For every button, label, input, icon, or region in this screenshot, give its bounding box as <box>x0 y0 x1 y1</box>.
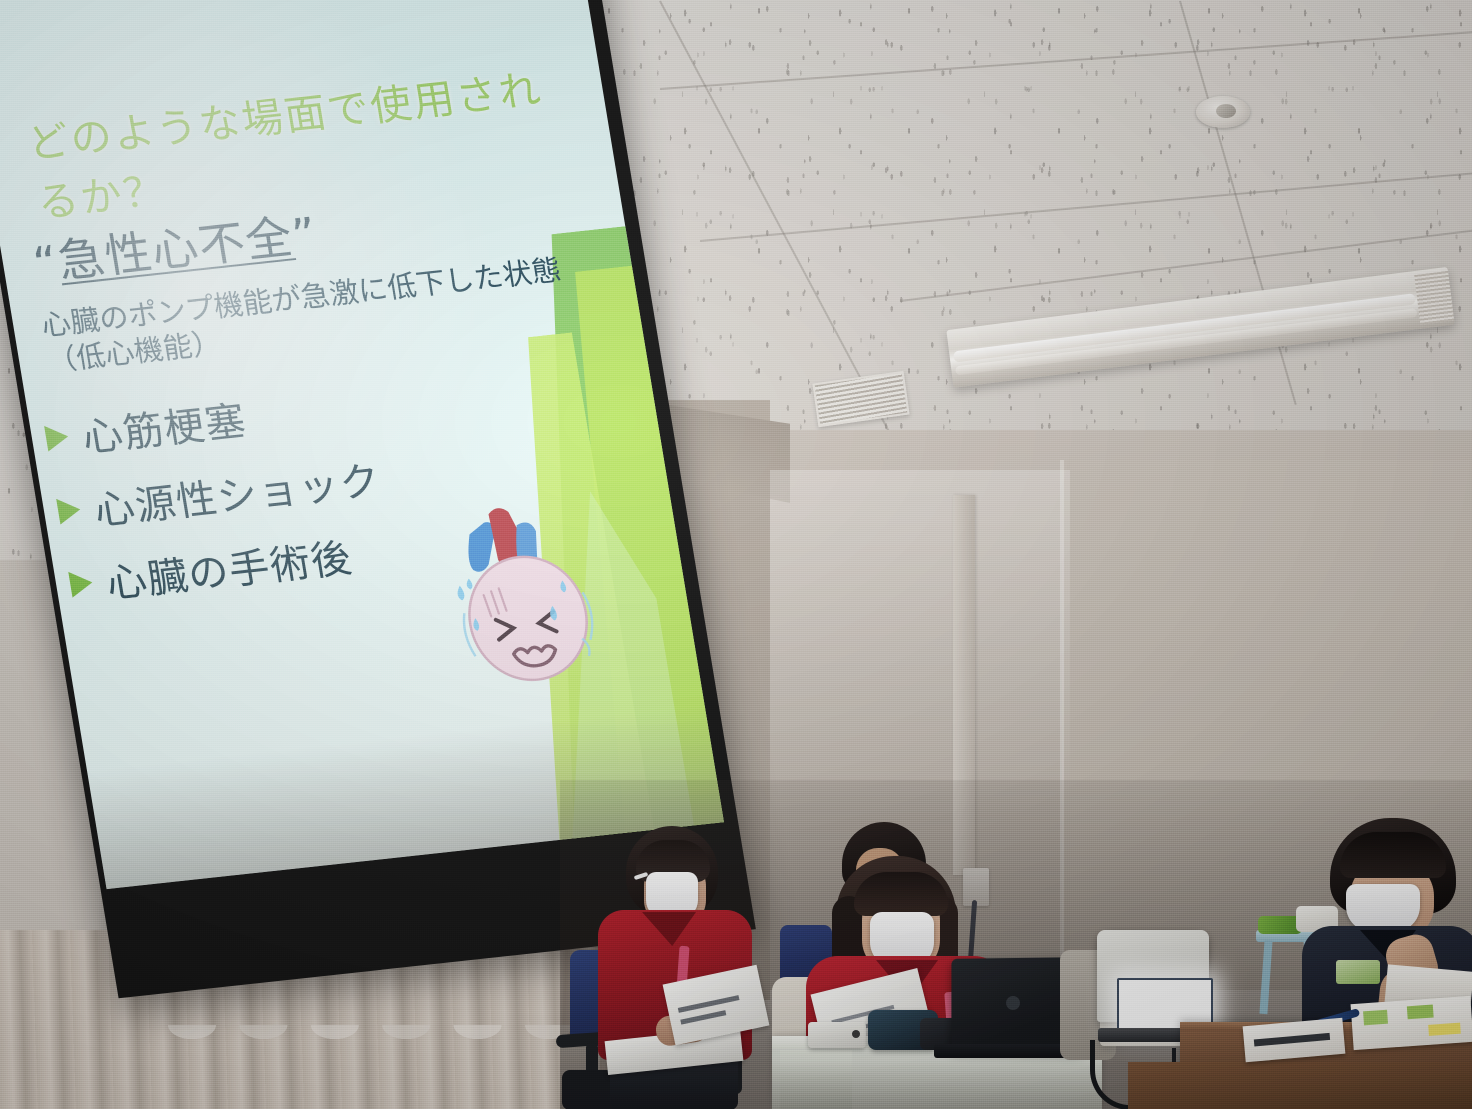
triangle-bullet-icon <box>44 424 70 452</box>
triangle-bullet-icon <box>56 497 82 525</box>
green-id-badge <box>1336 960 1380 984</box>
laptop-logo <box>1006 996 1020 1010</box>
curtain-scallop-hem <box>150 1025 570 1075</box>
key-term-underlined: 急性心不全 <box>54 210 297 289</box>
hair-fringe <box>854 872 948 916</box>
bullet-label: 心源性ショック <box>89 448 384 536</box>
bullet-label: 心筋梗塞 <box>77 388 250 463</box>
podium-shadow <box>772 1060 1102 1109</box>
wall-conduit <box>953 495 975 875</box>
presenter-remote-button[interactable] <box>852 1030 860 1038</box>
hair-fringe <box>1340 832 1446 878</box>
triangle-bullet-icon <box>68 570 94 598</box>
highlight-green <box>1363 1010 1388 1026</box>
highlight-yellow <box>1428 1023 1461 1036</box>
face-mask-icon <box>1346 884 1420 932</box>
highlight-green <box>1407 1005 1434 1020</box>
highlighted-handout <box>1351 996 1472 1050</box>
bullet-label: 心臓の手術後 <box>102 526 356 610</box>
heart-mascot-icon <box>426 486 632 697</box>
sprinkler-head-icon <box>1196 96 1250 128</box>
person-presenter-left <box>584 826 764 1109</box>
meeting-room-photo: どのような場面で使用されるか？ “急性心不全” 心臓のポンプ機能が急激に低下した… <box>0 0 1472 1109</box>
desk-right-front <box>1128 1062 1472 1109</box>
